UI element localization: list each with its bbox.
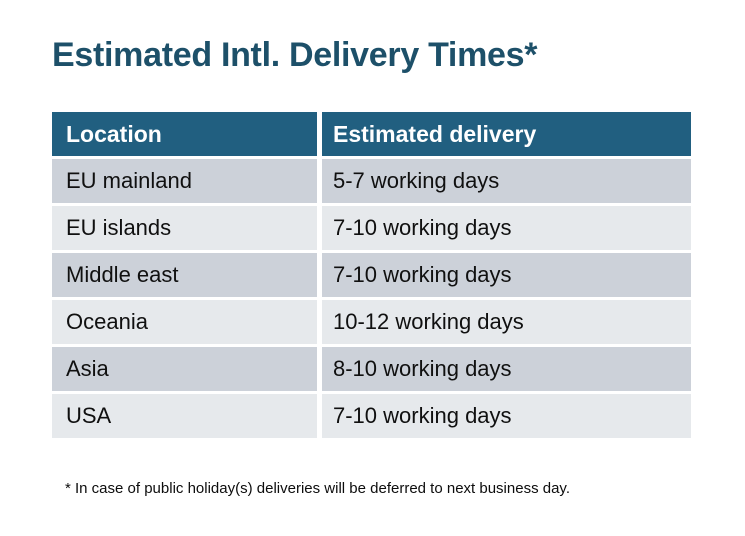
cell-delivery: 8-10 working days xyxy=(322,347,691,391)
footnote: * In case of public holiday(s) deliverie… xyxy=(65,480,570,497)
table-row: EU mainland 5-7 working days xyxy=(52,159,691,203)
page-title: Estimated Intl. Delivery Times* xyxy=(52,36,537,75)
table-row: Oceania 10-12 working days xyxy=(52,300,691,344)
delivery-times-card: Estimated Intl. Delivery Times* Location… xyxy=(0,0,745,536)
cell-delivery: 5-7 working days xyxy=(322,159,691,203)
estimated-delivery-table: Location Estimated delivery EU mainland … xyxy=(52,112,691,438)
table-row: EU islands 7-10 working days xyxy=(52,206,691,250)
cell-delivery: 7-10 working days xyxy=(322,394,691,438)
cell-delivery: 10-12 working days xyxy=(322,300,691,344)
cell-location: EU mainland xyxy=(52,159,317,203)
cell-delivery: 7-10 working days xyxy=(322,206,691,250)
cell-delivery: 7-10 working days xyxy=(322,253,691,297)
table-row: Middle east 7-10 working days xyxy=(52,253,691,297)
cell-location: Asia xyxy=(52,347,317,391)
table-header-row: Location Estimated delivery xyxy=(52,112,691,156)
cell-location: EU islands xyxy=(52,206,317,250)
cell-location: USA xyxy=(52,394,317,438)
cell-location: Oceania xyxy=(52,300,317,344)
column-header-location: Location xyxy=(52,112,317,156)
table-row: Asia 8-10 working days xyxy=(52,347,691,391)
table-row: USA 7-10 working days xyxy=(52,394,691,438)
cell-location: Middle east xyxy=(52,253,317,297)
column-header-delivery: Estimated delivery xyxy=(322,112,691,156)
